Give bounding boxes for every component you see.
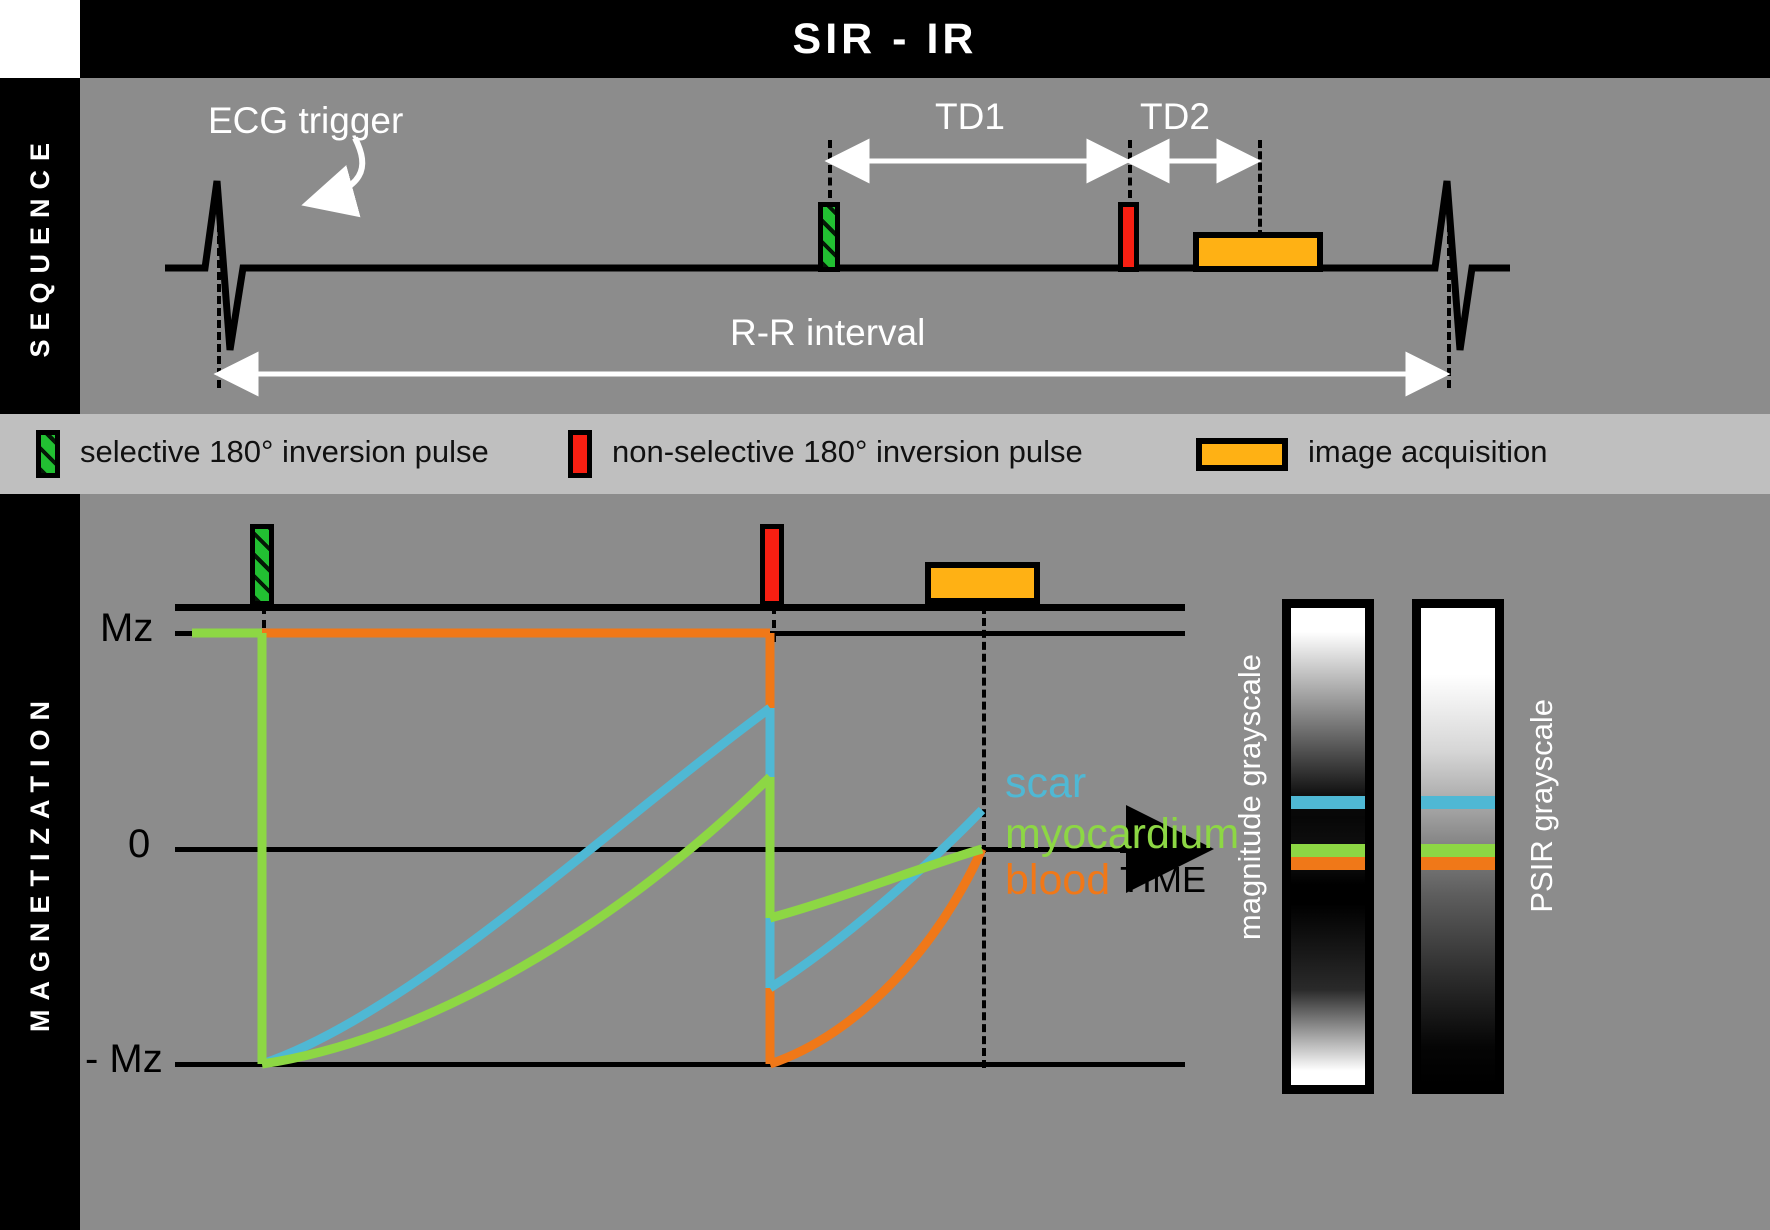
magnitude-marker-blood bbox=[1291, 857, 1365, 870]
legend-label-acquisition: image acquisition bbox=[1308, 434, 1548, 470]
sequence-panel: TD1 TD2 ECG trigger R-R interval bbox=[80, 78, 1770, 414]
page-title: SIR - IR bbox=[0, 0, 1770, 78]
time-axis-label: TIME bbox=[1120, 859, 1206, 901]
magnitude-grayscale-bar bbox=[1282, 599, 1374, 1094]
legend-image-acquisition-icon bbox=[1196, 438, 1288, 471]
td2-label: TD2 bbox=[1140, 96, 1210, 138]
curve-label-myocardium: myocardium bbox=[1005, 810, 1239, 859]
magnitude-grayscale-label: magnitude grayscale bbox=[1232, 654, 1268, 940]
psir-marker-blood bbox=[1421, 857, 1495, 870]
psir-marker-scar bbox=[1421, 796, 1495, 809]
psir-grayscale-label: PSIR grayscale bbox=[1524, 699, 1560, 913]
magnetization-panel: Mz 0 - Mz bbox=[80, 494, 1770, 1230]
legend-label-non-selective: non-selective 180° inversion pulse bbox=[612, 434, 1083, 470]
curve-label-scar: scar bbox=[1005, 759, 1086, 808]
figure-root: SIR - IR SEQUENCE MAGNETIZATION bbox=[0, 0, 1770, 1230]
td1-label: TD1 bbox=[935, 96, 1005, 138]
magnetization-curves bbox=[80, 494, 1770, 1230]
legend-selective-inversion-pulse-icon bbox=[36, 430, 60, 478]
magnetization-section-label-text: MAGNETIZATION bbox=[25, 692, 56, 1032]
legend-label-selective: selective 180° inversion pulse bbox=[80, 434, 489, 470]
magnitude-marker-scar bbox=[1291, 796, 1365, 809]
sequence-section-label-text: SEQUENCE bbox=[25, 134, 56, 358]
legend-bar: selective 180° inversion pulse non-selec… bbox=[0, 414, 1770, 494]
sequence-section-label: SEQUENCE bbox=[0, 78, 80, 414]
legend-non-selective-inversion-pulse-icon bbox=[568, 430, 592, 478]
rr-interval-label: R-R interval bbox=[730, 312, 925, 354]
magnitude-marker-myocardium bbox=[1291, 844, 1365, 857]
psir-grayscale-bar bbox=[1412, 599, 1504, 1094]
magnetization-section-label: MAGNETIZATION bbox=[0, 494, 80, 1230]
ecg-trigger-label: ECG trigger bbox=[208, 100, 403, 142]
curve-label-blood: blood bbox=[1005, 856, 1110, 905]
psir-marker-myocardium bbox=[1421, 844, 1495, 857]
title-bar: SIR - IR bbox=[0, 0, 1770, 78]
